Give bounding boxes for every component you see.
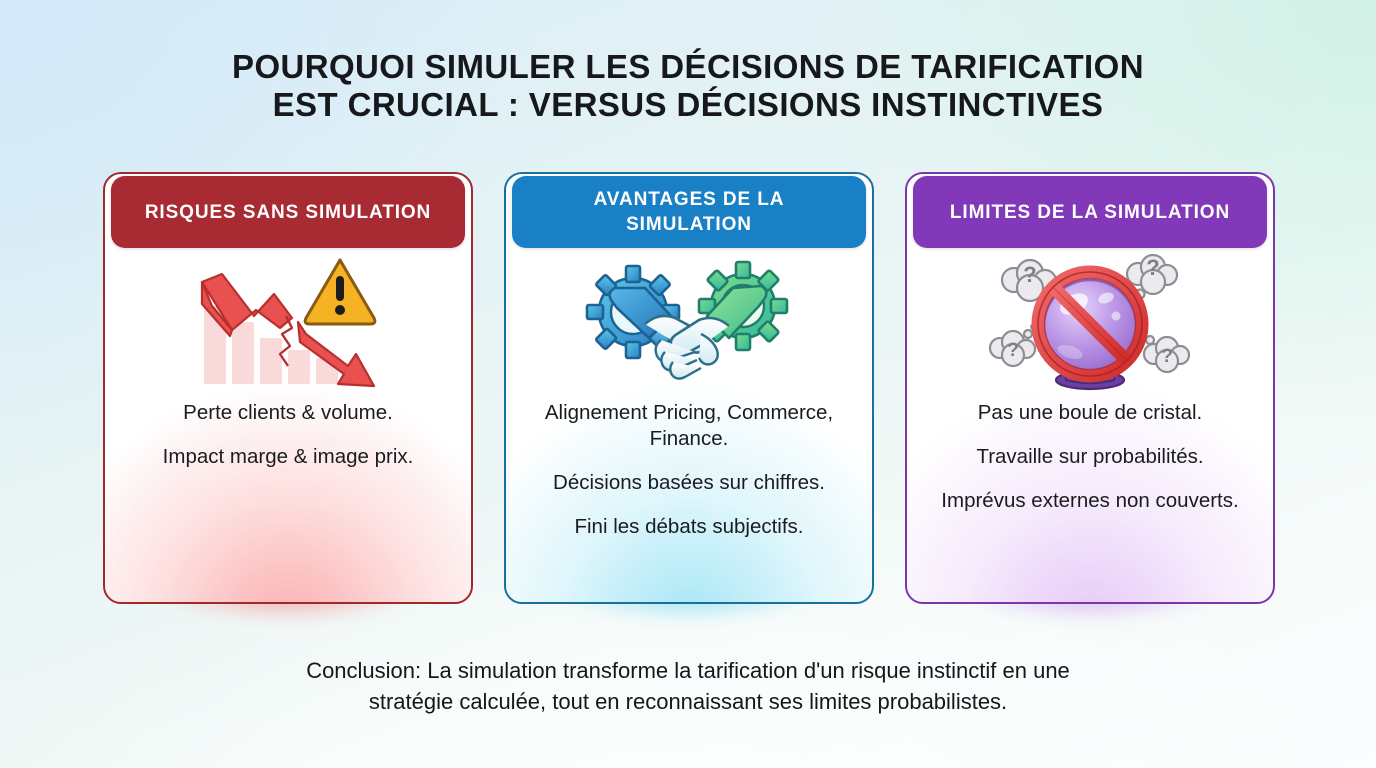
infographic-stage: POURQUOI SIMULER LES DÉCISIONS DE TARIFI… [0, 0, 1376, 768]
card-body-risques: Perte clients & volume. Impact marge & i… [105, 400, 471, 470]
icon-area-avantages [506, 248, 872, 400]
handshake-gears-icon [583, 254, 795, 394]
question-mark-glyph: ? [1023, 262, 1036, 287]
body-line: Décisions basées sur chiffres. [553, 470, 825, 496]
body-line: Perte clients & volume. [183, 400, 393, 426]
icon-area-limites: ? ? ? ? [907, 248, 1273, 400]
cards-row: RISQUES SANS SIMULATION [103, 172, 1275, 604]
body-line: Imprévus externes non couverts. [941, 488, 1238, 514]
conclusion-line-2: stratégie calculée, tout en reconnaissan… [180, 686, 1196, 717]
question-mark-glyph: ? [1161, 346, 1173, 367]
title-line-2: EST CRUCIAL : VERSUS DÉCISIONS INSTINCTI… [0, 86, 1376, 124]
declining-chart-warning-icon [188, 254, 388, 394]
card-body-limites: Pas une boule de cristal. Travaille sur … [907, 400, 1273, 514]
card-header-label: LIMITES DE LA SIMULATION [932, 200, 1248, 225]
card-header-limites: LIMITES DE LA SIMULATION [913, 176, 1267, 248]
card-avantages-de-la-simulation: AVANTAGES DE LA SIMULATION [504, 172, 874, 604]
crystal-ball-prohibited-icon: ? ? ? ? [984, 254, 1196, 394]
body-line: Travaille sur probabilités. [976, 444, 1203, 470]
card-body-avantages: Alignement Pricing, Commerce, Finance. D… [506, 400, 872, 540]
question-mark-glyph: ? [1146, 255, 1159, 280]
card-header-label: AVANTAGES DE LA SIMULATION [512, 187, 866, 237]
card-header-risques: RISQUES SANS SIMULATION [111, 176, 465, 248]
body-line: Alignement Pricing, Commerce, Finance. [524, 400, 854, 452]
card-limites-de-la-simulation: LIMITES DE LA SIMULATION [905, 172, 1275, 604]
card-risques-sans-simulation: RISQUES SANS SIMULATION [103, 172, 473, 604]
title-line-1: POURQUOI SIMULER LES DÉCISIONS DE TARIFI… [0, 48, 1376, 86]
question-mark-glyph: ? [1007, 340, 1019, 361]
body-line: Fini les débats subjectifs. [574, 514, 803, 540]
card-header-label: RISQUES SANS SIMULATION [127, 200, 449, 225]
body-line: Pas une boule de cristal. [978, 400, 1203, 426]
page-title: POURQUOI SIMULER LES DÉCISIONS DE TARIFI… [0, 48, 1376, 124]
card-header-avantages: AVANTAGES DE LA SIMULATION [512, 176, 866, 248]
icon-area-risques [105, 248, 471, 400]
conclusion-line-1: Conclusion: La simulation transforme la … [180, 655, 1196, 686]
conclusion-block: Conclusion: La simulation transforme la … [0, 655, 1376, 717]
body-line: Impact marge & image prix. [163, 444, 414, 470]
